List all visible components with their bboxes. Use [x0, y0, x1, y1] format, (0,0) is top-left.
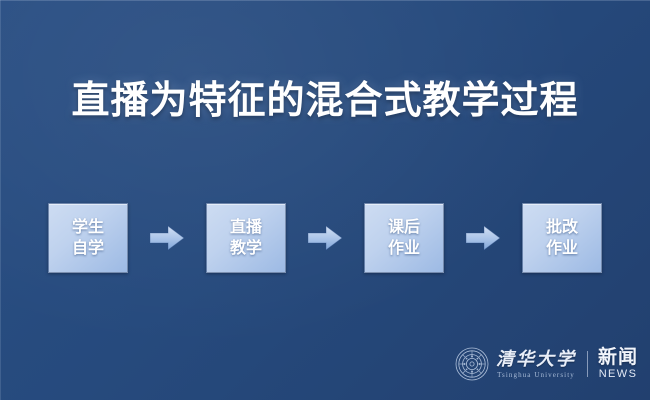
university-name-en: Tsinghua University — [497, 371, 575, 380]
slide-canvas: 直播为特征的混合式教学过程 学生 自学 直播 教学 — [0, 0, 650, 400]
flow-node-after-class-homework: 课后 作业 — [364, 203, 444, 273]
flow-node-label-line1: 直播 — [230, 217, 262, 238]
flow-node-label-line2: 自学 — [72, 238, 104, 259]
flow-node-label-line1: 课后 — [388, 217, 420, 238]
tsinghua-seal-icon — [455, 347, 489, 381]
flow-node-grading-homework: 批改 作业 — [522, 203, 602, 273]
flow-node-label-line2: 作业 — [546, 238, 578, 259]
logo-divider — [587, 351, 588, 377]
arrow-right-icon — [307, 221, 343, 255]
flow-node-live-teaching: 直播 教学 — [206, 203, 286, 273]
news-label-cn: 新闻 — [598, 347, 638, 368]
university-name-cn: 清华大学 — [496, 349, 576, 369]
news-label-en: NEWS — [599, 368, 638, 381]
arrow-right-icon — [465, 221, 501, 255]
news-wordmark: 新闻 NEWS — [598, 347, 638, 381]
flow-node-label-line2: 教学 — [230, 238, 262, 259]
process-flow-diagram: 学生 自学 直播 教学 — [48, 203, 602, 273]
top-edge-line — [0, 0, 650, 1]
arrow-right-icon — [149, 221, 185, 255]
flow-node-label-line2: 作业 — [388, 238, 420, 259]
flow-node-label-line1: 批改 — [546, 217, 578, 238]
left-edge-line — [0, 0, 1, 400]
slide-title: 直播为特征的混合式教学过程 — [0, 78, 650, 124]
tsinghua-news-logo: 清华大学 Tsinghua University 新闻 NEWS — [455, 341, 635, 387]
flow-node-label-line1: 学生 — [72, 217, 104, 238]
university-wordmark: 清华大学 Tsinghua University — [496, 349, 576, 380]
flow-node-student-self-study: 学生 自学 — [48, 203, 128, 273]
